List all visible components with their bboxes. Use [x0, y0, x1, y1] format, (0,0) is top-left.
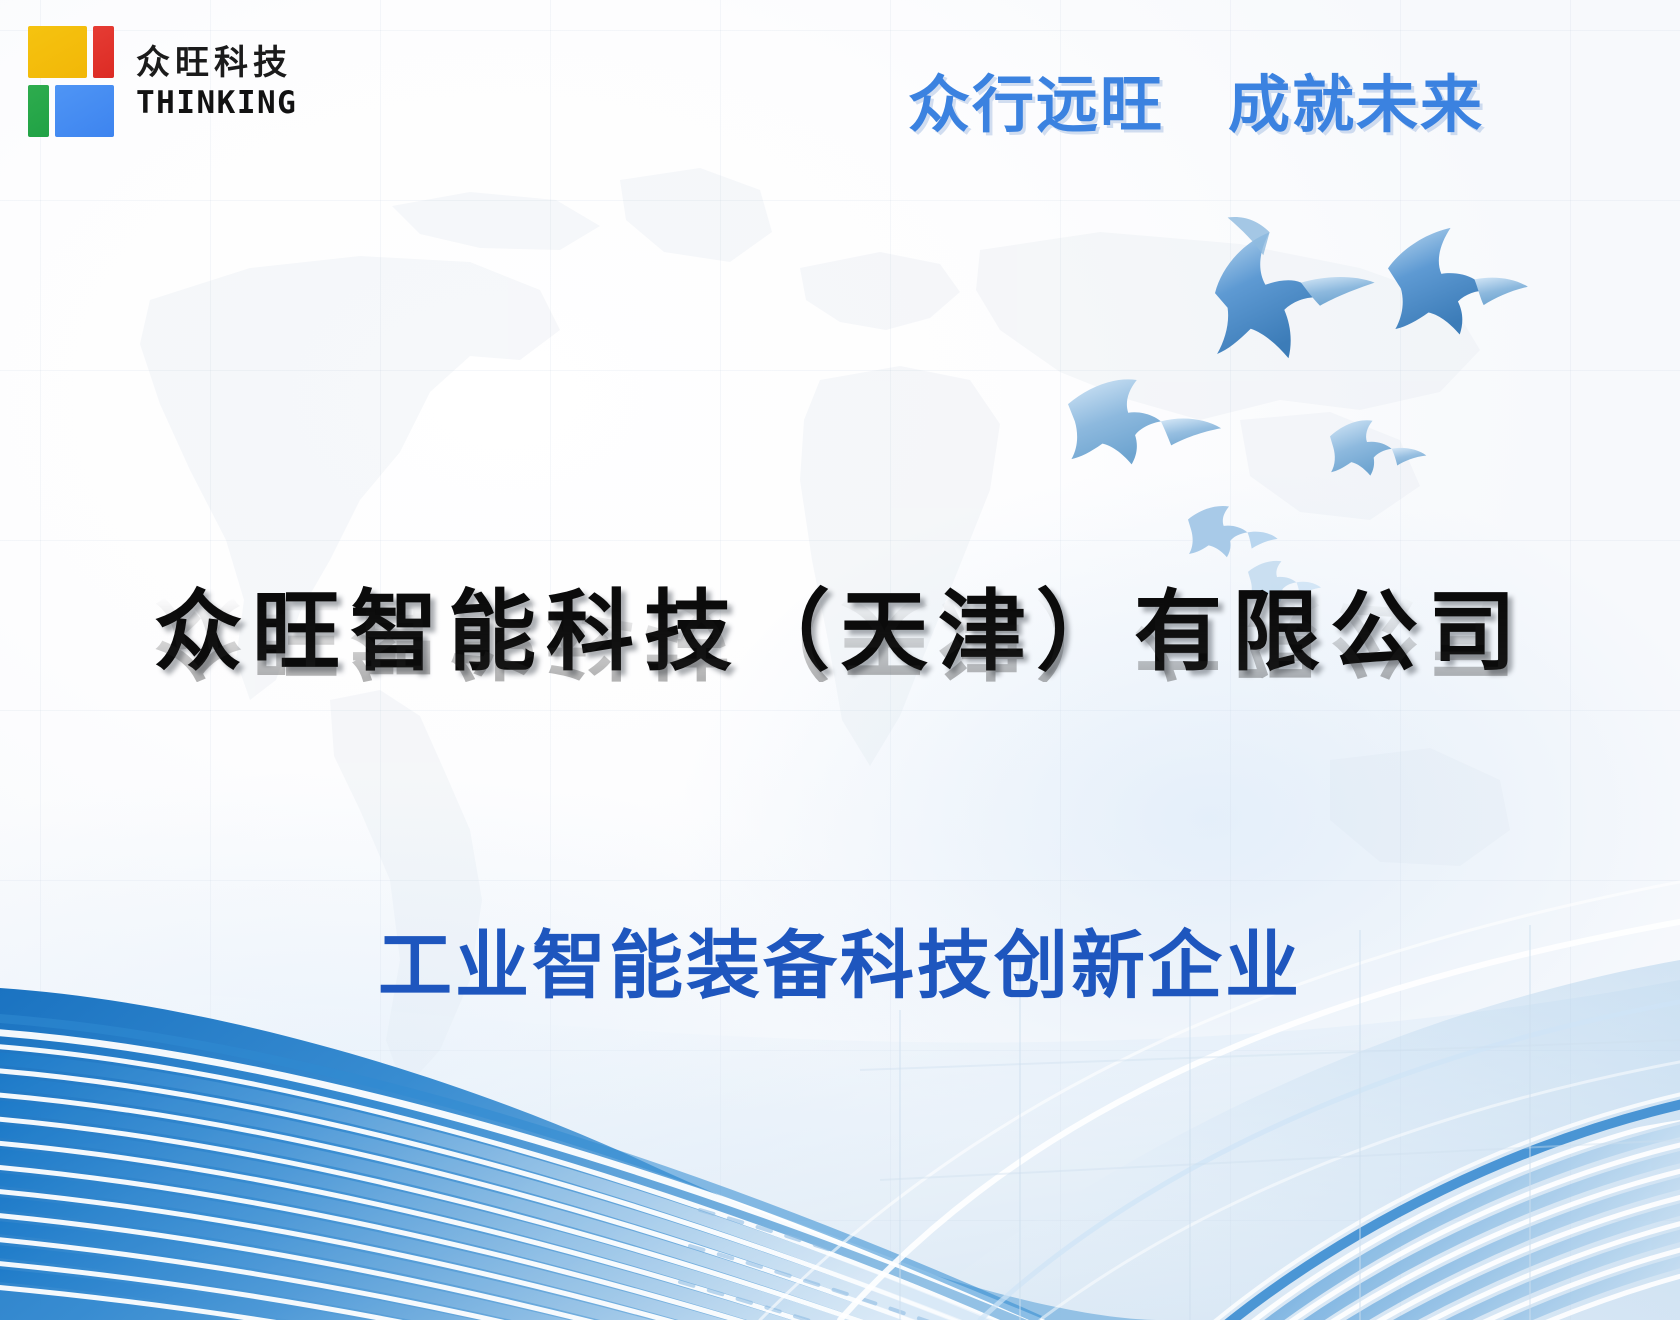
logo-yellow-tile — [28, 26, 87, 78]
company-logo: 众旺科技 THINKING — [28, 26, 297, 138]
wave-lines-right — [1230, 1110, 1680, 1320]
logo-name-en: THINKING — [136, 88, 297, 119]
main-title-block: 众旺智能科技（天津）有限公司 众旺智能科技（天津）有限公司 — [0, 586, 1680, 773]
bird-icon — [1330, 420, 1426, 475]
bird-icon — [1215, 217, 1375, 358]
page-subtitle: 工业智能装备科技创新企业 — [0, 906, 1680, 1013]
logo-mark-icon — [28, 26, 114, 138]
title-slide: 众旺科技 THINKING 众行远旺 成就未来 众旺智能科技（天津）有限公司 众… — [0, 0, 1680, 1320]
logo-name-cn: 众旺科技 — [136, 46, 297, 80]
bird-icon — [1068, 379, 1221, 464]
header-tagline: 众行远旺 成就未来 — [908, 54, 1484, 144]
logo-red-tile — [93, 26, 114, 78]
logo-wordmark: 众旺科技 THINKING — [136, 46, 297, 119]
page-title-reflection: 众旺智能科技（天津）有限公司 — [0, 590, 1680, 682]
bird-icon — [1188, 506, 1278, 557]
logo-blue-tile — [55, 85, 114, 137]
bird-icon — [1388, 228, 1528, 335]
logo-green-tile — [28, 85, 49, 137]
wave-lines-left — [0, 1044, 1120, 1320]
